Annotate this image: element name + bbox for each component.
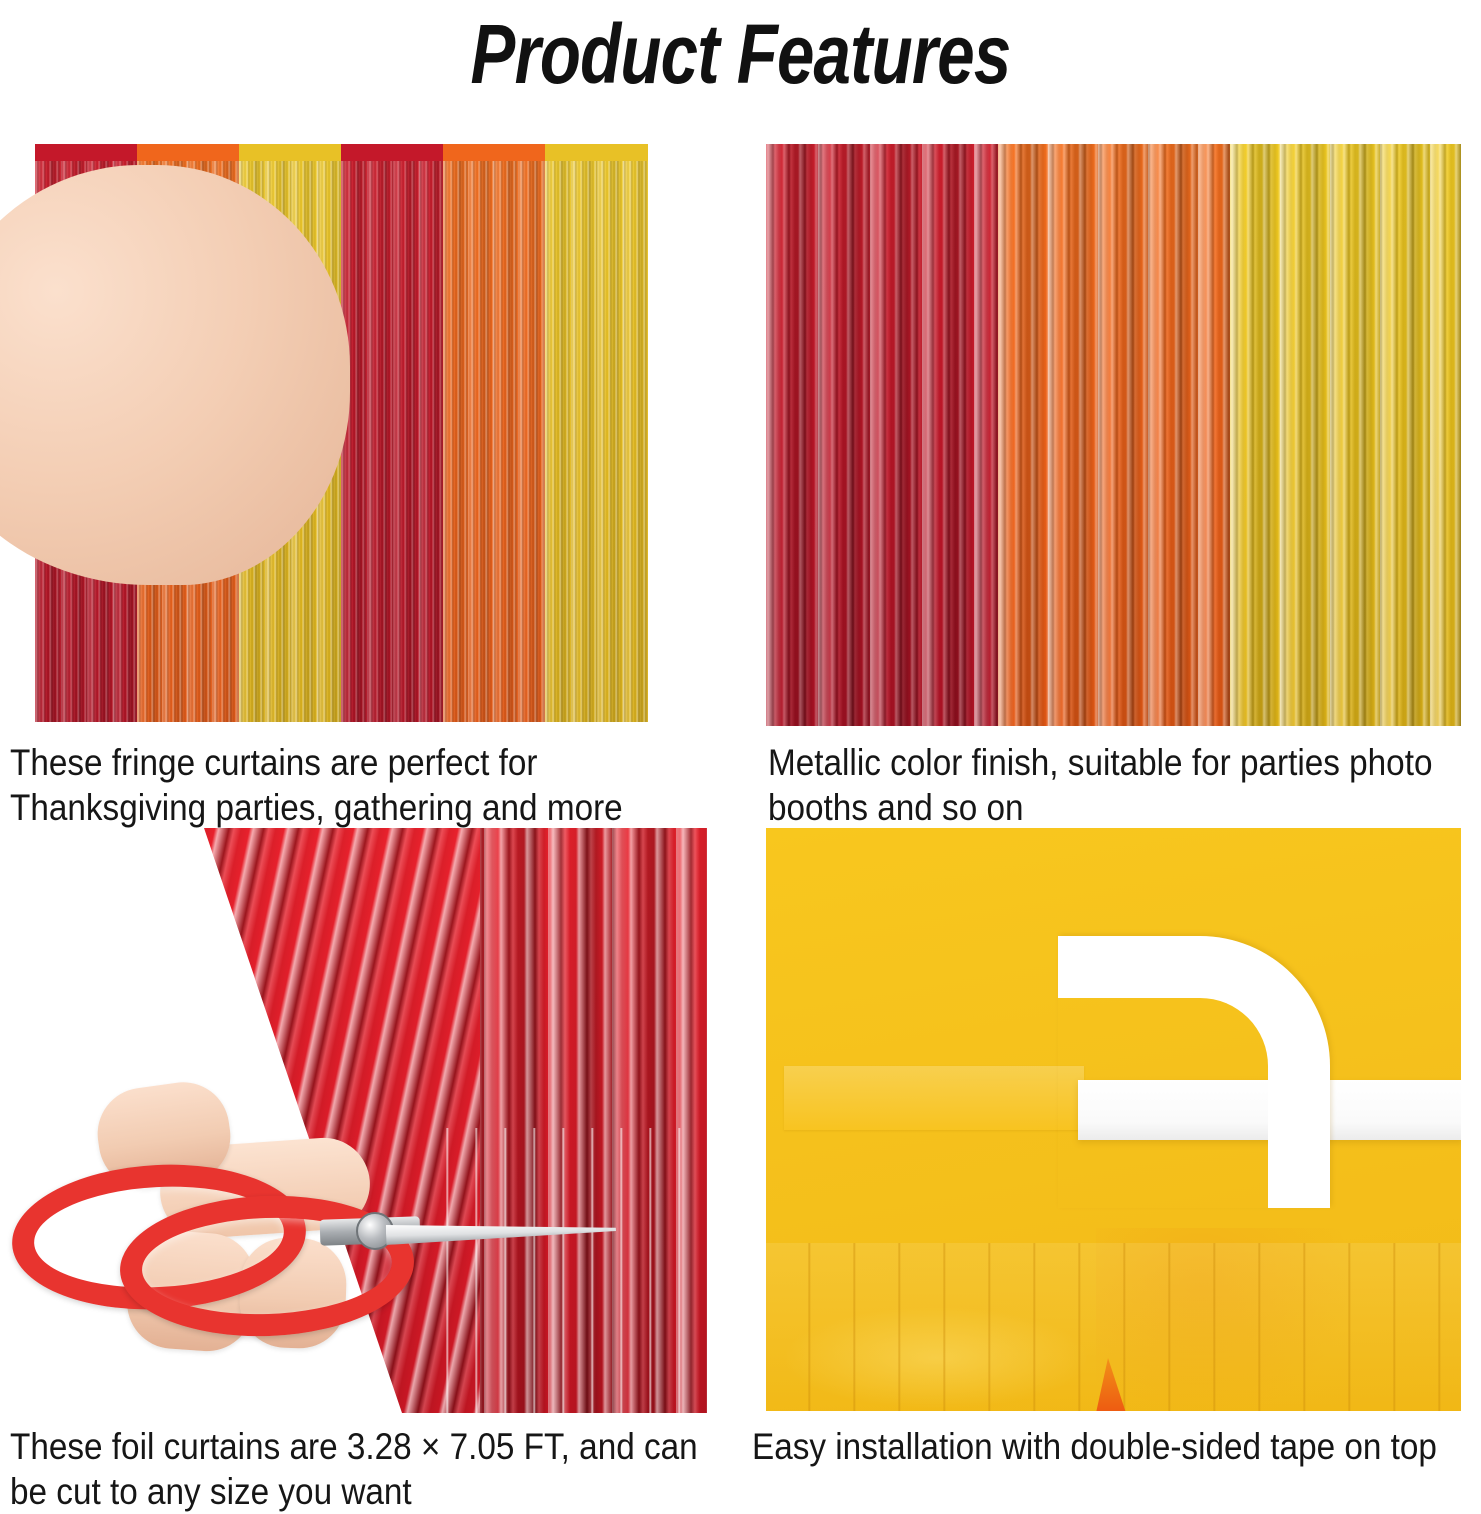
fringe-strands [545,144,648,722]
curtain-band-orange-2 [443,144,545,722]
curtain-band-red-2 [341,144,443,722]
yellow-foil-background [766,828,1461,1411]
hand [0,165,350,585]
caption-top-left: These fringe curtains are perfect for Th… [10,740,730,830]
curtain-band-yellow-2 [545,144,648,722]
curtain-header-strip [239,144,341,161]
fringe-strands [998,144,1230,726]
curtain-header-strip [341,144,443,161]
double-sided-tape-strip [784,1066,1084,1130]
caption-bottom-left: These foil curtains are 3.28 × 7.05 FT, … [10,1424,730,1514]
caption-bottom-right: Easy installation with double-sided tape… [752,1424,1481,1469]
curtain-band-orange [998,144,1230,726]
product-image-top-right [766,144,1461,726]
product-image-bottom-right [766,828,1461,1411]
curtain-header-strip [443,144,545,161]
foil-cut-slits [420,1128,707,1413]
curtain-header-strip [137,144,239,161]
caption-top-right: Metallic color finish, suitable for part… [768,740,1481,830]
page-title: Product Features [148,2,1333,106]
tape-liner-peeled-curl [1058,936,1330,1208]
fringe-strands [766,144,998,726]
fringe-strands [443,144,545,722]
curtain-header-strip [545,144,648,161]
fringe-strands [1230,144,1461,726]
curtain-band-yellow [1230,144,1461,726]
fringe-strands [341,144,443,722]
curtain-band-red [766,144,998,726]
curtain-header-strip [35,144,137,161]
